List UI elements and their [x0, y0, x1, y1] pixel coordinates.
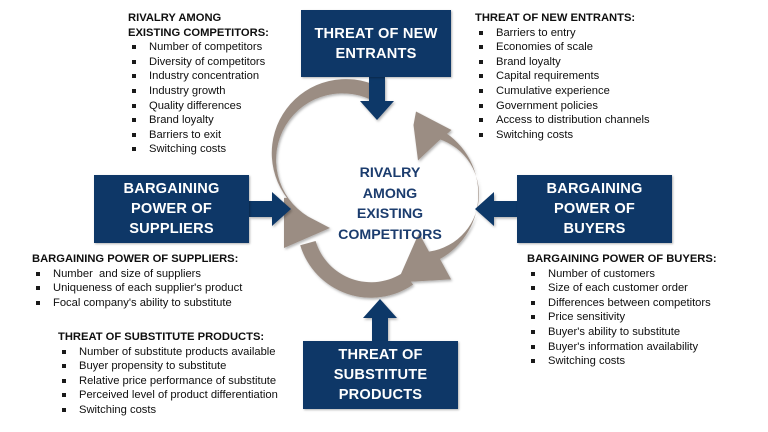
- list-item-label: Capital requirements: [496, 70, 599, 82]
- list-item: Price sensitivity: [527, 310, 767, 325]
- list-title: RIVALRY AMONG EXISTING COMPETITORS:: [128, 11, 308, 40]
- list-item: Buyer's ability to substitute: [527, 325, 767, 340]
- bullet-icon: [479, 45, 483, 49]
- center-label-rivalry-among-existing-competitors: RIVALRY AMONG EXISTING COMPETITORS: [316, 163, 464, 245]
- list-item: Size of each customer order: [527, 281, 767, 296]
- list-item-label: Brand loyalty: [149, 114, 214, 126]
- arrow-bargaining-power-of-suppliers: [249, 192, 291, 226]
- list-item-label: Barriers to entry: [496, 27, 576, 39]
- bullet-icon: [132, 104, 136, 108]
- bullet-icon: [132, 147, 136, 151]
- list-item-label: Focal company's ability to substitute: [53, 297, 232, 309]
- list-item-label: Quality differences: [149, 100, 241, 112]
- list-title: THREAT OF SUBSTITUTE PRODUCTS:: [58, 330, 333, 345]
- list-title: BARGAINING POWER OF SUPPLIERS:: [32, 252, 302, 267]
- bullet-icon: [531, 301, 535, 305]
- bullet-icon: [62, 350, 66, 354]
- list-item-label: Switching costs: [149, 143, 226, 155]
- bullet-icon: [132, 74, 136, 78]
- bullet-icon: [479, 74, 483, 78]
- list-item-label: Relative price performance of substitute: [79, 375, 276, 387]
- list-items: Number of customers Size of each custome…: [527, 267, 767, 369]
- list-item: Quality differences: [128, 99, 308, 114]
- list-item-label: Brand loyalty: [496, 56, 561, 68]
- list-bargaining-power-of-suppliers: BARGAINING POWER OF SUPPLIERS: Number an…: [32, 252, 302, 310]
- list-item-label: Price sensitivity: [548, 311, 625, 323]
- list-item: Government policies: [475, 99, 715, 114]
- list-item-label: Differences between competitors: [548, 297, 711, 309]
- list-item: Capital requirements: [475, 69, 715, 84]
- list-item-label: Barriers to exit: [149, 129, 221, 141]
- list-item-label: Number of substitute products available: [79, 346, 276, 358]
- list-item-label: Government policies: [496, 100, 598, 112]
- list-item: Switching costs: [475, 128, 715, 143]
- list-item: Cumulative experience: [475, 84, 715, 99]
- bullet-icon: [36, 272, 40, 276]
- list-threat-of-substitute-products: THREAT OF SUBSTITUTE PRODUCTS: Number of…: [58, 330, 333, 418]
- bullet-icon: [479, 133, 483, 137]
- list-item: Perceived level of product differentiati…: [58, 388, 333, 403]
- list-item: Switching costs: [58, 403, 333, 418]
- list-item-label: Economies of scale: [496, 41, 593, 53]
- bullet-icon: [36, 286, 40, 290]
- list-item: Uniqueness of each supplier's product: [32, 281, 302, 296]
- list-item: Buyer propensity to substitute: [58, 359, 333, 374]
- bullet-icon: [531, 345, 535, 349]
- bullet-icon: [479, 118, 483, 122]
- bullet-icon: [479, 104, 483, 108]
- bullet-icon: [479, 31, 483, 35]
- bullet-icon: [531, 286, 535, 290]
- bullet-icon: [132, 60, 136, 64]
- list-item: Number and size of suppliers: [32, 267, 302, 282]
- list-title: BARGAINING POWER OF BUYERS:: [527, 252, 767, 267]
- list-item-label: Cumulative experience: [496, 85, 610, 97]
- list-item: Differences between competitors: [527, 296, 767, 311]
- list-item-label: Number of competitors: [149, 41, 262, 53]
- bullet-icon: [62, 364, 66, 368]
- arrow-threat-of-new-entrants: [360, 77, 394, 120]
- list-item: Buyer's information availability: [527, 340, 767, 355]
- list-item: Switching costs: [128, 142, 308, 157]
- bullet-icon: [36, 301, 40, 305]
- list-item-label: Buyer propensity to substitute: [79, 360, 226, 372]
- list-item: Barriers to entry: [475, 26, 715, 41]
- list-item: Access to distribution channels: [475, 113, 715, 128]
- list-item: Diversity of competitors: [128, 55, 308, 70]
- bullet-icon: [132, 118, 136, 122]
- list-bargaining-power-of-buyers: BARGAINING POWER OF BUYERS: Number of cu…: [527, 252, 767, 369]
- bullet-icon: [479, 89, 483, 93]
- force-box-bargaining-power-of-suppliers[interactable]: BARGAINING POWER OF SUPPLIERS: [94, 175, 249, 243]
- list-item-label: Switching costs: [548, 355, 625, 367]
- list-title: THREAT OF NEW ENTRANTS:: [475, 11, 715, 26]
- list-item: Barriers to exit: [128, 128, 308, 143]
- list-item-label: Switching costs: [496, 129, 573, 141]
- list-item-label: Access to distribution channels: [496, 114, 650, 126]
- bullet-icon: [479, 60, 483, 64]
- list-item: Focal company's ability to substitute: [32, 296, 302, 311]
- list-item-label: Buyer's ability to substitute: [548, 326, 680, 338]
- bullet-icon: [132, 89, 136, 93]
- list-item-label: Industry growth: [149, 85, 225, 97]
- list-item: Number of substitute products available: [58, 345, 333, 360]
- list-item-label: Buyer's information availability: [548, 341, 698, 353]
- list-rivalry-among-existing-competitors: RIVALRY AMONG EXISTING COMPETITORS: Numb…: [128, 11, 308, 157]
- list-item: Switching costs: [527, 354, 767, 369]
- list-item-label: Size of each customer order: [548, 282, 688, 294]
- list-items: Barriers to entry Economies of scale Bra…: [475, 26, 715, 143]
- list-item-label: Number of customers: [548, 268, 655, 280]
- bullet-icon: [62, 408, 66, 412]
- bullet-icon: [531, 272, 535, 276]
- list-item: Industry concentration: [128, 69, 308, 84]
- porters-five-forces-diagram: RIVALRY AMONG EXISTING COMPETITORS THREA…: [0, 0, 768, 432]
- list-item: Economies of scale: [475, 40, 715, 55]
- list-item-label: Number and size of suppliers: [53, 268, 201, 280]
- list-items: Number of competitors Diversity of compe…: [128, 40, 308, 157]
- list-items: Number of substitute products available …: [58, 345, 333, 418]
- list-item: Industry growth: [128, 84, 308, 99]
- list-items: Number and size of suppliers Uniqueness …: [32, 267, 302, 311]
- list-item-label: Industry concentration: [149, 70, 259, 82]
- list-threat-of-new-entrants: THREAT OF NEW ENTRANTS: Barriers to entr…: [475, 11, 715, 142]
- force-box-threat-of-new-entrants[interactable]: THREAT OF NEW ENTRANTS: [301, 10, 451, 77]
- bullet-icon: [62, 393, 66, 397]
- list-item-label: Diversity of competitors: [149, 56, 265, 68]
- bullet-icon: [531, 359, 535, 363]
- bullet-icon: [132, 45, 136, 49]
- bullet-icon: [132, 133, 136, 137]
- bullet-icon: [531, 330, 535, 334]
- list-item: Brand loyalty: [128, 113, 308, 128]
- list-item: Brand loyalty: [475, 55, 715, 70]
- list-item-label: Uniqueness of each supplier's product: [53, 282, 242, 294]
- list-item: Relative price performance of substitute: [58, 374, 333, 389]
- arrow-bargaining-power-of-buyers: [475, 192, 517, 226]
- bullet-icon: [531, 315, 535, 319]
- list-item: Number of customers: [527, 267, 767, 282]
- list-item: Number of competitors: [128, 40, 308, 55]
- list-item-label: Perceived level of product differentiati…: [79, 389, 278, 401]
- bullet-icon: [62, 379, 66, 383]
- arrow-threat-of-substitute-products: [363, 299, 397, 341]
- force-box-bargaining-power-of-buyers[interactable]: BARGAINING POWER OF BUYERS: [517, 175, 672, 243]
- list-item-label: Switching costs: [79, 404, 156, 416]
